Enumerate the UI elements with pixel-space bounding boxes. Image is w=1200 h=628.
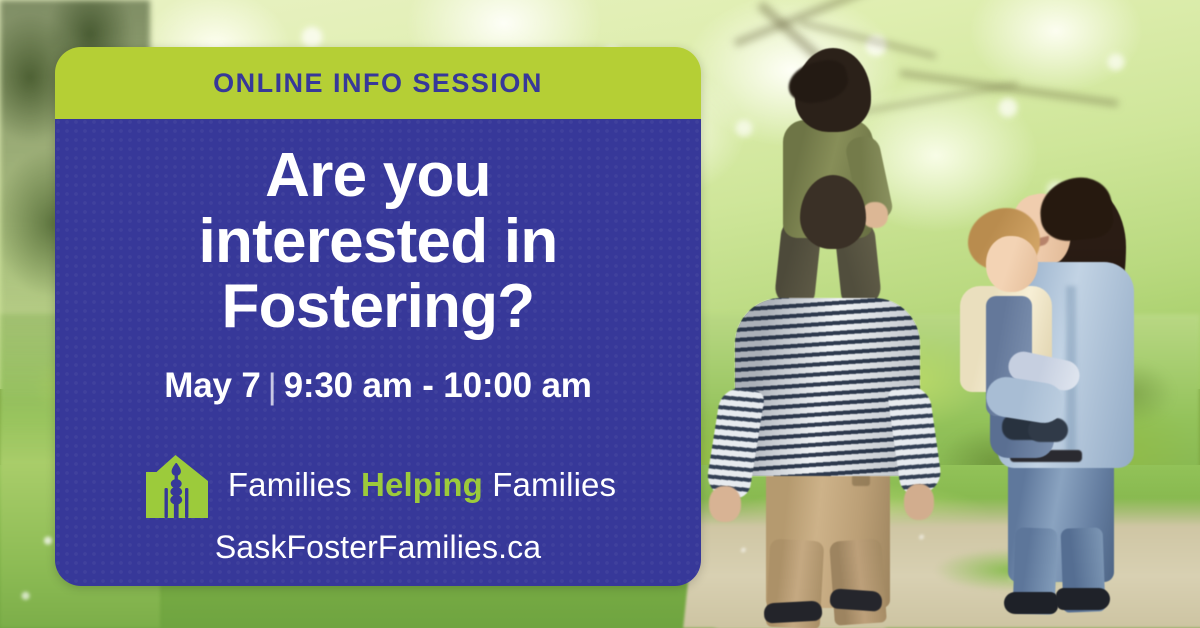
house-with-family-figure-icon [140,450,214,520]
father-hand-right [904,484,934,520]
father-shoe-right [829,588,882,612]
website-url[interactable]: SaskFosterFamilies.ca [215,529,541,566]
card-body: Are you interested in Fostering? May 7|9… [55,119,701,586]
card-banner: ONLINE INFO SESSION [55,47,701,119]
headline-line-3: Fostering? [199,274,558,340]
wordmark-part-3: Families [492,466,616,503]
wordmark-part-2: Helping [361,466,483,503]
session-datetime: May 7|9:30 am - 10:00 am [164,366,591,406]
eyebrow-label: ONLINE INFO SESSION [213,68,543,99]
toddler-face [986,236,1038,292]
mother-shoe-left [1004,592,1058,614]
datetime-separator: | [261,367,284,407]
father-hand-left [709,486,741,522]
headline-line-1: Are you [199,143,558,209]
father-leg-right [829,538,887,625]
info-card: ONLINE INFO SESSION Are you interested i… [55,47,701,586]
promo-poster: ONLINE INFO SESSION Are you interested i… [0,0,1200,628]
session-date: May 7 [164,366,260,405]
mother-shoe-right [1056,588,1110,610]
brand-lockup: Families Helping Families SaskFosterFami… [140,450,616,566]
wordmark-part-1: Families [228,466,352,503]
session-time: 9:30 am - 10:00 am [284,366,592,405]
headline-line-2: interested in [199,209,558,275]
father-shoe-left [764,600,823,623]
page-title: Are you interested in Fostering? [199,143,558,340]
father-shirt-shading [735,298,920,476]
logo-row: Families Helping Families [140,450,616,520]
brand-wordmark: Families Helping Families [228,466,616,504]
